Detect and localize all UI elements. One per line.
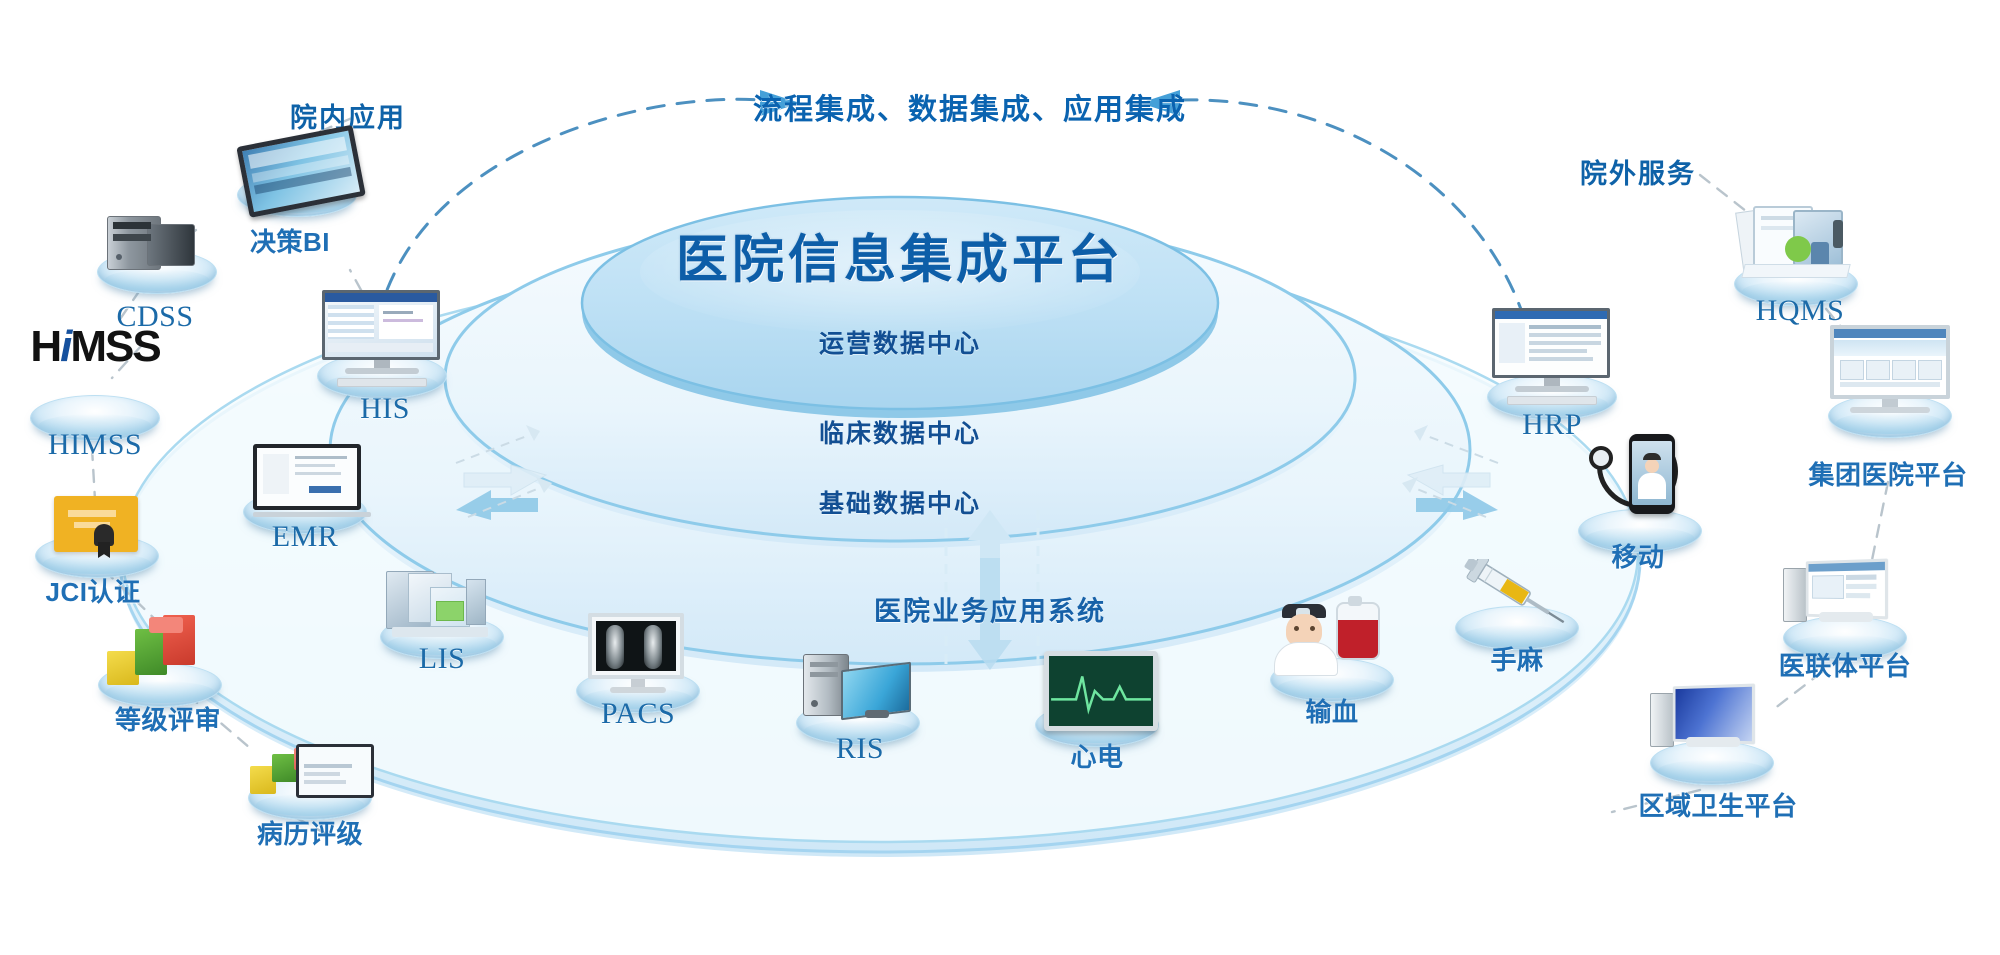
- node-label-blood: 输血: [1305, 692, 1358, 729]
- node-label-grade: 等级评审: [115, 700, 221, 737]
- desktop-hrp-icon: [1492, 308, 1612, 392]
- tier-label-foundation: 基础数据中心: [819, 484, 981, 520]
- node-label-his: HIS: [360, 392, 410, 426]
- xray-monitor-icon: [588, 613, 688, 689]
- node-hqms[interactable]: [1711, 208, 1881, 308]
- tier-label-clinical: 临床数据中心: [819, 414, 981, 450]
- desktop-blue-icon: [1650, 683, 1774, 759]
- node-label-bi: 决策BI: [250, 222, 330, 259]
- node-label-regional-platform: 区域卫生平台: [1638, 786, 1797, 823]
- node-label-group-platform: 集团医院平台: [1808, 455, 1967, 492]
- laptop-emr-icon: [253, 444, 357, 510]
- node-label-anesthesia: 手麻: [1490, 640, 1543, 677]
- platform-title: 医院信息集成平台: [676, 218, 1124, 293]
- lab-analyzer-icon: [386, 569, 498, 637]
- node-label-ris: RIS: [836, 732, 884, 766]
- node-label-emr: EMR: [272, 520, 339, 554]
- node-label-jci: JCI认证: [46, 572, 141, 609]
- node-grade[interactable]: [80, 620, 240, 710]
- node-alliance-platform[interactable]: [1760, 560, 1930, 660]
- node-ecg[interactable]: [1017, 652, 1177, 748]
- integration-arc-label: 流程集成、数据集成、应用集成: [753, 86, 1187, 128]
- node-bi[interactable]: [222, 150, 372, 220]
- node-group-platform[interactable]: [1805, 330, 1975, 440]
- node-anesthesia[interactable]: [1437, 560, 1597, 650]
- node-cdss[interactable]: [82, 218, 232, 298]
- himss-logo-icon: HiMSS: [30, 325, 159, 413]
- node-label-pacs: PACS: [601, 697, 675, 731]
- node-label-himss: HIMSS: [48, 428, 142, 462]
- node-hrp[interactable]: [1467, 313, 1637, 423]
- mobile-stethoscope-icon: [1575, 434, 1705, 526]
- syringe-icon: [1458, 559, 1576, 627]
- bidirectional-exchange-arrows: [456, 425, 552, 520]
- desktop-pc-icon: [1783, 558, 1907, 634]
- diagram-canvas: 流程集成、数据集成、应用集成 院内应用 院外服务 医院信息集成平台 运营数据中心…: [0, 0, 2000, 955]
- desktop-portal-icon: [1830, 325, 1950, 411]
- node-label-alliance-platform: 医联体平台: [1779, 646, 1912, 683]
- node-jci[interactable]: [22, 500, 172, 580]
- laptop-chart-icon: [250, 732, 370, 798]
- desktop-his-icon: [322, 290, 442, 374]
- node-label-emr-grade: 病历评级: [257, 814, 363, 851]
- server-screen-icon: [803, 654, 913, 722]
- node-blood[interactable]: [1252, 607, 1412, 703]
- tablet-chart-icon: [236, 126, 357, 206]
- node-label-mobile: 移动: [1611, 537, 1664, 574]
- tier-label-operational: 运营数据中心: [819, 324, 981, 360]
- folder-docs-icon: [1737, 204, 1855, 282]
- business-layer-label: 医院业务应用系统: [874, 590, 1106, 629]
- node-label-ecg: 心电: [1070, 737, 1123, 774]
- node-emr-grade[interactable]: [230, 733, 390, 823]
- node-regional-platform[interactable]: [1627, 685, 1797, 785]
- node-label-hqms: HQMS: [1756, 294, 1845, 328]
- server-rack-icon: [107, 214, 207, 272]
- node-label-hrp: HRP: [1522, 408, 1582, 442]
- transfusion-icon: [1274, 602, 1390, 676]
- node-label-lis: LIS: [419, 642, 466, 676]
- ecg-monitor-icon: [1044, 651, 1150, 723]
- node-his[interactable]: [297, 295, 467, 405]
- bidirectional-exchange-arrows: [1402, 425, 1498, 520]
- section-label-external: 院外服务: [1580, 152, 1696, 191]
- bar-blocks-icon: [105, 613, 215, 685]
- certificate-icon: [54, 496, 140, 556]
